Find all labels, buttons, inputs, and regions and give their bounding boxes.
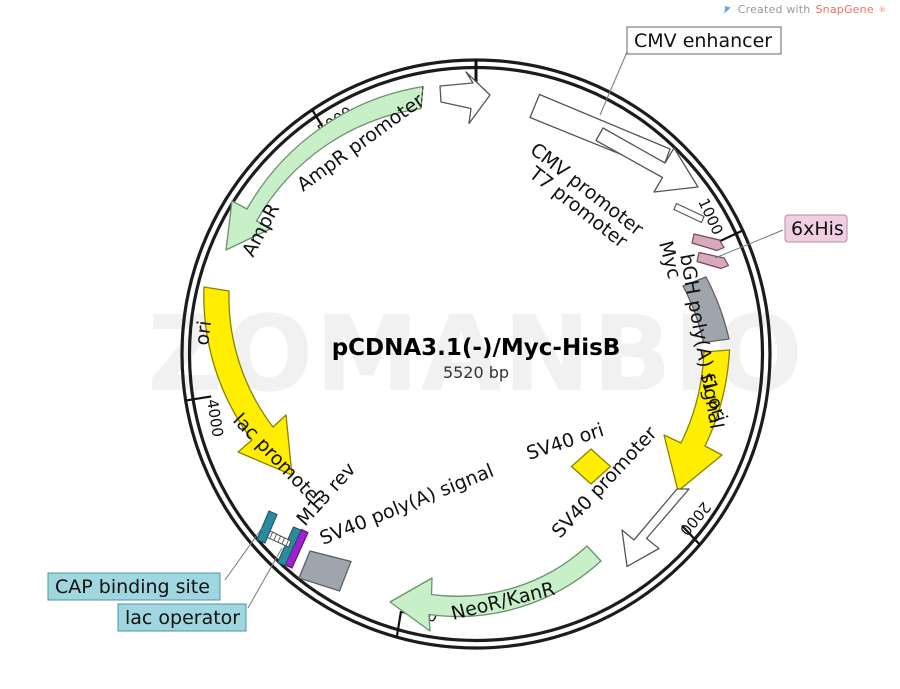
plasmid-size: 5520 bp bbox=[443, 363, 509, 382]
snapgene-logo-icon bbox=[720, 3, 733, 16]
plasmid-title: pCDNA3.1(-)/Myc-HisB bbox=[332, 335, 621, 361]
label-ori: ori bbox=[191, 319, 216, 346]
credit-prefix: Created with bbox=[738, 3, 811, 16]
plasmid-map: ZOMANBIO 1000 2000 3000 4000 bbox=[0, 0, 900, 689]
credit-brand: SnapGene bbox=[815, 3, 873, 16]
callout-label-cap-binding-site: CAP binding site bbox=[55, 576, 210, 598]
plasmid-diagram: ZOMANBIO 1000 2000 3000 4000 bbox=[0, 0, 900, 689]
callout-lac-operator[interactable]: lac operator bbox=[118, 604, 246, 631]
callout-label-cmv-enhancer: CMV enhancer bbox=[634, 30, 772, 52]
callout-label-6xhis: 6xHis bbox=[791, 218, 844, 240]
feature-neor-kanr[interactable] bbox=[390, 546, 601, 631]
feature-myc[interactable] bbox=[692, 234, 724, 251]
credit-trademark: ® bbox=[879, 6, 886, 14]
feature-ampr-promoter[interactable] bbox=[440, 72, 490, 124]
snapgene-credit: Created with SnapGene® bbox=[720, 3, 886, 16]
callout-label-lac-operator: lac operator bbox=[125, 607, 240, 629]
callout-cmv-enhancer[interactable]: CMV enhancer bbox=[627, 27, 781, 54]
callout-6xhis[interactable]: 6xHis bbox=[785, 215, 847, 242]
callout-cap-binding-site[interactable]: CAP binding site bbox=[48, 573, 220, 600]
feature-cmv-promoter[interactable] bbox=[596, 128, 698, 192]
label-neor-kanr: NeoR/KanR bbox=[449, 578, 557, 625]
